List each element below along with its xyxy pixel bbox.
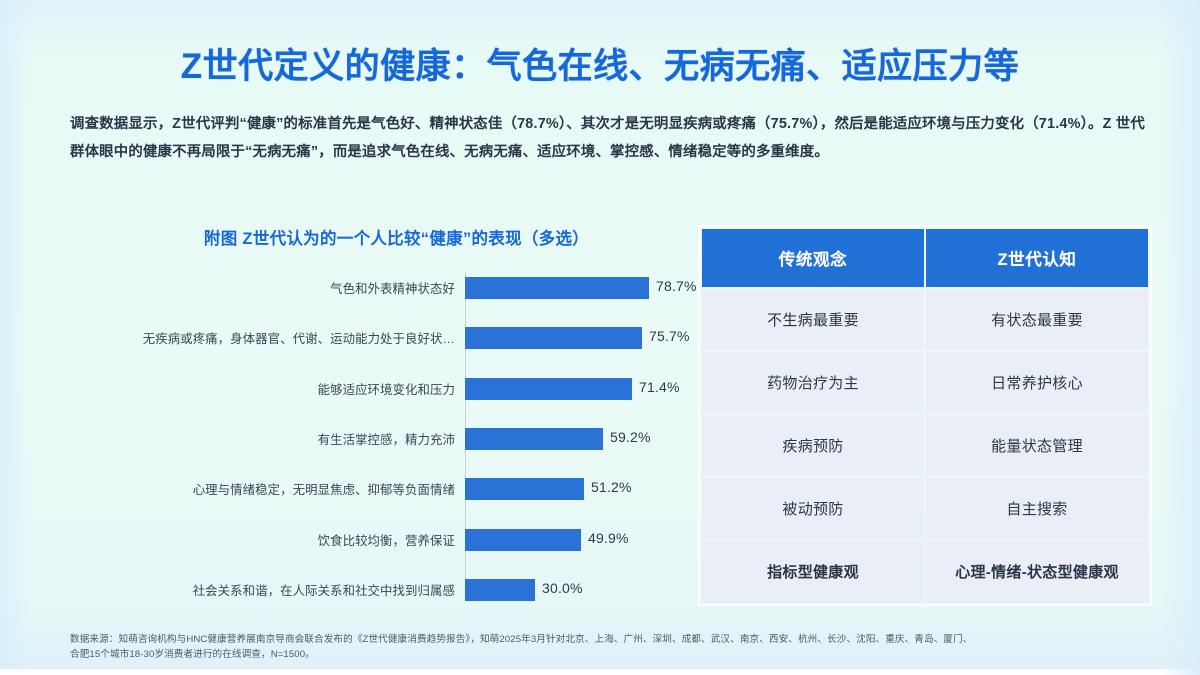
table-header-genz: Z世代认知 (926, 229, 1148, 287)
chart-bar-label: 气色和外表精神状态好 (55, 279, 460, 297)
chart-bar-label: 无疾病或疼痛，身体器官、代谢、运动能力处于良好状… (55, 329, 460, 347)
table-cell: 被动预防 (702, 478, 924, 539)
chart-bar (465, 478, 584, 500)
chart-bar-value: 71.4% (639, 379, 680, 395)
table-cell: 药物治疗为主 (702, 352, 924, 413)
chart-bar-label: 社会关系和谐，在人际关系和社交中找到归属感 (55, 581, 460, 599)
chart-bar-track: 78.7% (465, 277, 680, 299)
page-title: Z世代定义的健康：气色在线、无病无痛、适应压力等 (0, 38, 1200, 89)
chart-bar-row: 能够适应环境变化和压力71.4% (55, 378, 680, 400)
chart-bar-track: 59.2% (465, 428, 680, 450)
source-note-line-2: 合肥15个城市18-30岁消费者进行的在线调查，N=1500。 (70, 647, 1160, 662)
table-cell: 不生病最重要 (702, 289, 924, 350)
chart-bar-row: 社会关系和谐，在人际关系和社交中找到归属感30.0% (55, 579, 680, 601)
chart-bar-value: 78.7% (656, 278, 697, 294)
chart-bar (465, 378, 632, 400)
table-header-row: 传统观念 Z世代认知 (702, 229, 1148, 287)
chart-plot-area: 气色和外表精神状态好78.7%无疾病或疼痛，身体器官、代谢、运动能力处于良好状…… (55, 271, 680, 601)
source-note: 数据来源：知萌咨询机构与HNC健康营养展南京导商会联合发布的《Z世代健康消费趋势… (70, 632, 1160, 662)
slide-root: Z世代定义的健康：气色在线、无病无痛、适应压力等 调查数据显示，Z世代评判“健康… (0, 0, 1200, 675)
chart-bar-label: 心理与情绪稳定，无明显焦虑、抑郁等负面情绪 (55, 480, 460, 498)
chart-title: 附图 Z世代认为的一个人比较“健康”的表现（多选） (55, 225, 680, 249)
lead-paragraph: 调查数据显示，Z世代评判“健康”的标准首先是气色好、精神状态佳（78.7%）、其… (70, 110, 1145, 166)
table-cell: 指标型健康观 (702, 541, 924, 602)
bottom-band (0, 669, 1200, 675)
chart-bar-label: 有生活掌控感，精力充沛 (55, 430, 460, 448)
comparison-table: 传统观念 Z世代认知 不生病最重要有状态最重要药物治疗为主日常养护核心疾病预防能… (700, 227, 1150, 604)
table-row: 疾病预防能量状态管理 (702, 415, 1148, 476)
chart-bar-row: 有生活掌控感，精力充沛59.2% (55, 428, 680, 450)
table-row: 不生病最重要有状态最重要 (702, 289, 1148, 350)
chart-bar-value: 49.9% (588, 530, 629, 546)
chart-bar (465, 579, 535, 601)
table-cell: 疾病预防 (702, 415, 924, 476)
chart-bar-row: 心理与情绪稳定，无明显焦虑、抑郁等负面情绪51.2% (55, 478, 680, 500)
table-cell: 日常养护核心 (926, 352, 1148, 413)
table-cell: 有状态最重要 (926, 289, 1148, 350)
chart-bar-label: 饮食比较均衡，营养保证 (55, 531, 460, 549)
chart-bar (465, 529, 581, 551)
table-header-traditional: 传统观念 (702, 229, 924, 287)
source-note-line-1: 数据来源：知萌咨询机构与HNC健康营养展南京导商会联合发布的《Z世代健康消费趋势… (70, 632, 1160, 647)
chart-bar-track: 71.4% (465, 378, 680, 400)
chart-bar-row: 气色和外表精神状态好78.7% (55, 277, 680, 299)
chart-bar-value: 59.2% (610, 429, 651, 445)
chart-bar-value: 75.7% (649, 328, 690, 344)
chart-bar-track: 49.9% (465, 529, 680, 551)
bar-chart-panel: 附图 Z世代认为的一个人比较“健康”的表现（多选） 气色和外表精神状态好78.7… (55, 225, 680, 610)
chart-bar-label: 能够适应环境变化和压力 (55, 380, 460, 398)
chart-bar-value: 51.2% (591, 479, 632, 495)
chart-bar-row: 饮食比较均衡，营养保证49.9% (55, 529, 680, 551)
chart-bar (465, 428, 603, 450)
chart-bar (465, 327, 642, 349)
chart-bar-value: 30.0% (542, 580, 583, 596)
chart-bar (465, 277, 649, 299)
table-row: 指标型健康观心理-情绪-状态型健康观 (702, 541, 1148, 602)
chart-bar-row: 无疾病或疼痛，身体器官、代谢、运动能力处于良好状…75.7% (55, 327, 680, 349)
chart-bar-track: 51.2% (465, 478, 680, 500)
table-cell: 心理-情绪-状态型健康观 (926, 541, 1148, 602)
table-cell: 能量状态管理 (926, 415, 1148, 476)
chart-bar-track: 75.7% (465, 327, 680, 349)
table-cell: 自主搜索 (926, 478, 1148, 539)
chart-bar-track: 30.0% (465, 579, 680, 601)
table-row: 药物治疗为主日常养护核心 (702, 352, 1148, 413)
table-row: 被动预防自主搜索 (702, 478, 1148, 539)
